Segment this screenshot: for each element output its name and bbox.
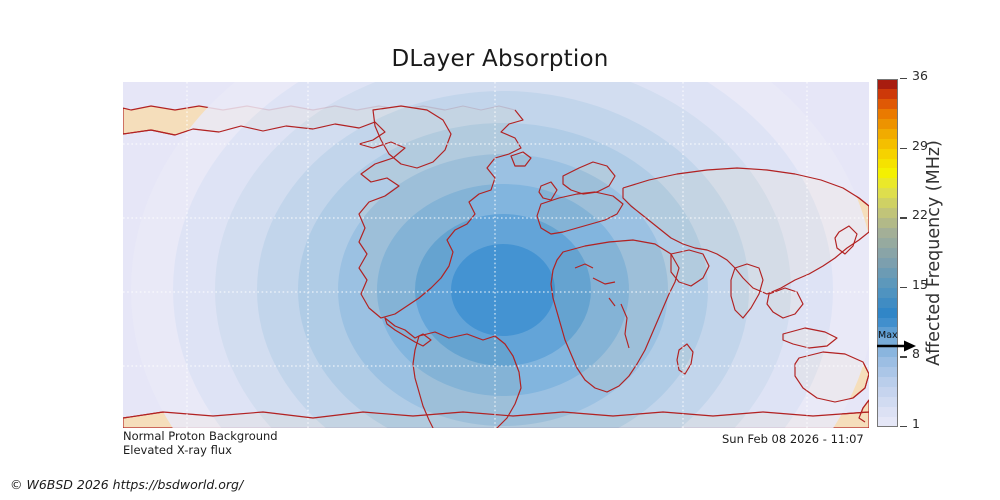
colorbar-band — [877, 278, 898, 288]
colorbar-band — [877, 99, 898, 109]
colorbar-band — [877, 357, 898, 367]
colorbar-band — [877, 327, 898, 337]
colorbar-band — [877, 337, 898, 347]
colorbar-tick-mark — [900, 78, 907, 79]
colorbar-tick-mark — [900, 356, 907, 357]
world-map-plot[interactable] — [123, 82, 869, 428]
colorbar-tick: 1 — [900, 427, 960, 428]
colorbar-band — [877, 149, 898, 159]
annotation-xray-flux: Elevated X-ray flux — [123, 444, 232, 457]
colorbar-axis-label: Affected Frequency (MHz) — [921, 79, 947, 427]
colorbar-band — [877, 407, 898, 417]
colorbar-band — [877, 318, 898, 328]
colorbar-tick-mark — [900, 426, 907, 427]
colorbar-band — [877, 129, 898, 139]
colorbar-band — [877, 397, 898, 407]
colorbar-band — [877, 89, 898, 99]
colorbar-band — [877, 168, 898, 178]
colorbar-band — [877, 178, 898, 188]
colorbar-band — [877, 238, 898, 248]
colorbar-tick-mark — [900, 217, 907, 218]
colorbar-band — [877, 139, 898, 149]
colorbar-band — [877, 228, 898, 238]
colorbar-band — [877, 109, 898, 119]
page-title: DLayer Absorption — [0, 46, 1000, 72]
colorbar-band — [877, 308, 898, 318]
colorbar-band — [877, 218, 898, 228]
colorbar-band — [877, 387, 898, 397]
colorbar-band — [877, 377, 898, 387]
colorbar-band — [877, 159, 898, 169]
timestamp: Sun Feb 08 2026 - 11:07 — [722, 432, 864, 446]
map-svg — [123, 82, 869, 428]
dlayer-absorption-page: DLayer Absorption — [0, 0, 1000, 500]
colorbar[interactable] — [877, 79, 898, 427]
colorbar-band — [877, 298, 898, 308]
colorbar-tick-label: 1 — [912, 418, 920, 431]
annotation-proton-background: Normal Proton Background — [123, 430, 278, 443]
colorbar-band — [877, 367, 898, 377]
colorbar-band — [877, 258, 898, 268]
colorbar-band — [877, 347, 898, 357]
colorbar-band — [877, 208, 898, 218]
credit-line: © W6BSD 2026 https://bsdworld.org/ — [10, 477, 243, 492]
colorbar-band — [877, 268, 898, 278]
colorbar-tick-mark — [900, 287, 907, 288]
colorbar-tick-mark — [900, 148, 907, 149]
colorbar-band — [877, 248, 898, 258]
colorbar-band — [877, 188, 898, 198]
colorbar-band — [877, 417, 898, 427]
colorbar-band — [877, 119, 898, 129]
colorbar-tick-label: 8 — [912, 348, 920, 361]
colorbar-band — [877, 288, 898, 298]
absorption-contours — [131, 82, 869, 428]
colorbar-band — [877, 198, 898, 208]
colorbar-band — [877, 79, 898, 89]
